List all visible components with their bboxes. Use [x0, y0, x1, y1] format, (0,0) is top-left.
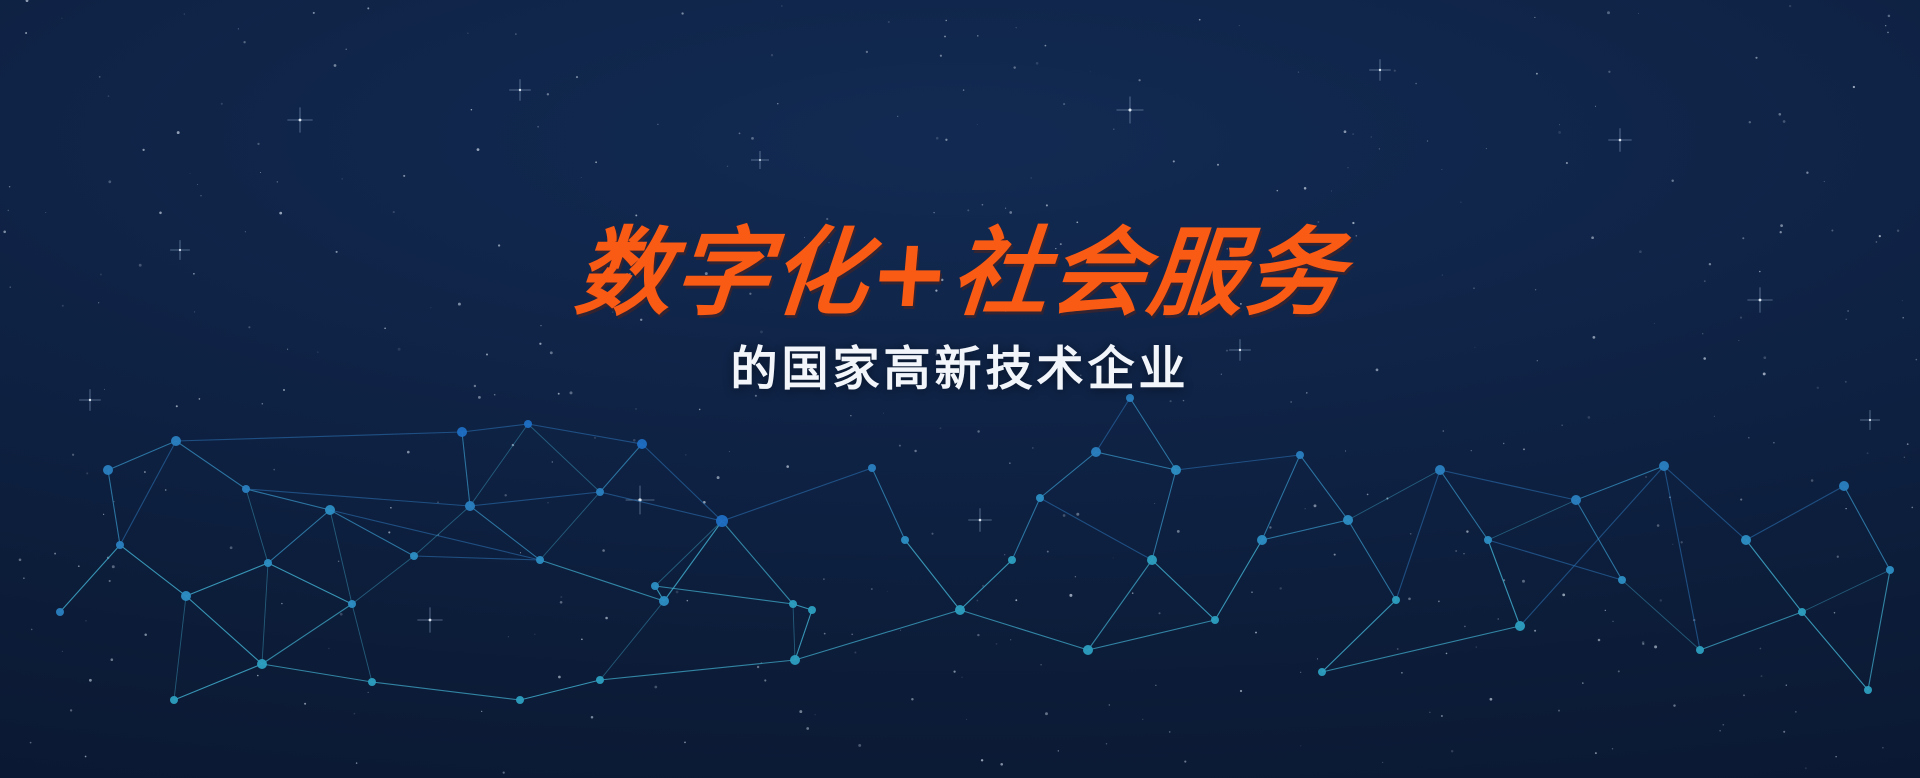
network-filler-edges [60, 398, 1890, 700]
hero-banner: 数字化+社会服务 的国家高新技术企业 [0, 0, 1920, 778]
low-poly-network-graphic [0, 0, 1920, 778]
network-edges [60, 398, 1890, 700]
network-nodes [56, 394, 1894, 704]
